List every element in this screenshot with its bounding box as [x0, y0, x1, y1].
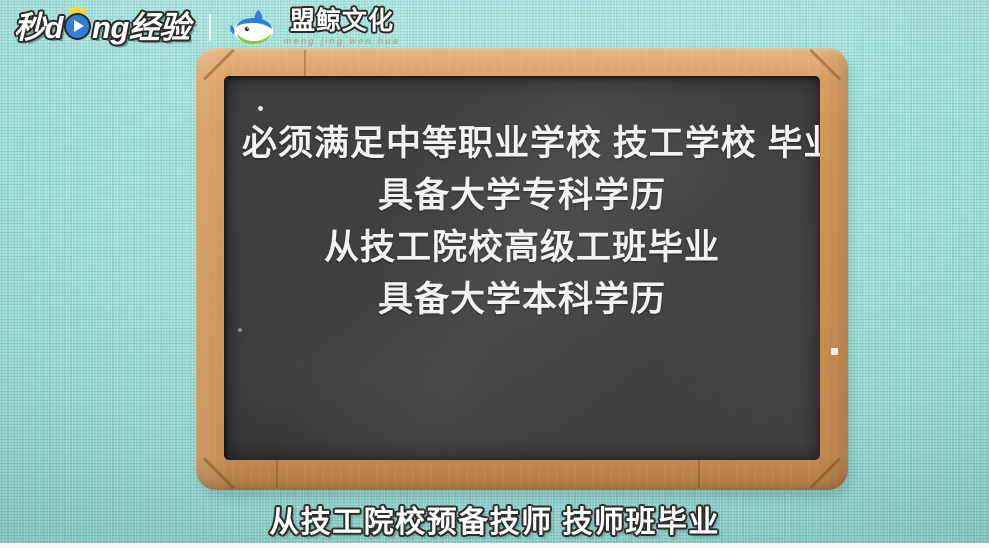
- play-triangle-icon: [74, 20, 84, 32]
- blackboard-line-4: 具备大学本科学历: [242, 274, 802, 326]
- blackboard-line-2: 具备大学专科学历: [242, 170, 802, 222]
- mengjing-text-block: 盟鲸文化 meng jing wen hua: [284, 8, 400, 46]
- miaodong-jingyan-logo[interactable]: 秒dng经验: [14, 5, 190, 49]
- brand-divider: [209, 14, 211, 41]
- branding-bar: 秒dng经验 盟鲸文化 meng jing wen hua: [0, 0, 989, 54]
- mengjing-pinyin: meng jing wen hua: [284, 36, 400, 46]
- subtitle-bar: 从技工院校预备技师 技师班毕业: [0, 497, 989, 541]
- whale-icon: [228, 7, 278, 47]
- blackboard-line-1: 必须满足中等职业学校 技工学校 毕业: [242, 118, 802, 170]
- blackboard-wooden-frame: 必须满足中等职业学校 技工学校 毕业 具备大学专科学历 从技工院校高级工班毕业 …: [196, 48, 848, 490]
- blackboard-surface: 必须满足中等职业学校 技工学校 毕业 具备大学专科学历 从技工院校高级工班毕业 …: [224, 76, 820, 460]
- miaodong-logo-text: 秒dng经验: [14, 4, 190, 50]
- mengjing-wenhua-logo[interactable]: 盟鲸文化 meng jing wen hua: [228, 4, 400, 50]
- mengjing-title: 盟鲸文化: [290, 8, 394, 35]
- play-button-circle-icon[interactable]: [64, 13, 91, 40]
- frame-mitre-bottom-right: [809, 457, 841, 489]
- chalk-speck: [238, 328, 242, 332]
- bottom-strip: [0, 543, 989, 548]
- blackboard-text-block: 必须满足中等职业学校 技工学校 毕业 具备大学专科学历 从技工院校高级工班毕业 …: [224, 118, 820, 326]
- frame-speck: [831, 348, 838, 355]
- video-frame: 秒dng经验 盟鲸文化 meng jing wen hua: [0, 0, 989, 548]
- blackboard-line-3: 从技工院校高级工班毕业: [242, 222, 802, 274]
- frame-mitre-bottom-left: [203, 457, 235, 489]
- miaodong-text-after: ng经验: [92, 6, 190, 50]
- miaodong-text-before: 秒d: [14, 6, 63, 50]
- blackboard: 必须满足中等职业学校 技工学校 毕业 具备大学专科学历 从技工院校高级工班毕业 …: [196, 48, 848, 490]
- subtitle-text: 从技工院校预备技师 技师班毕业: [269, 497, 720, 541]
- chalk-speck: [258, 106, 263, 111]
